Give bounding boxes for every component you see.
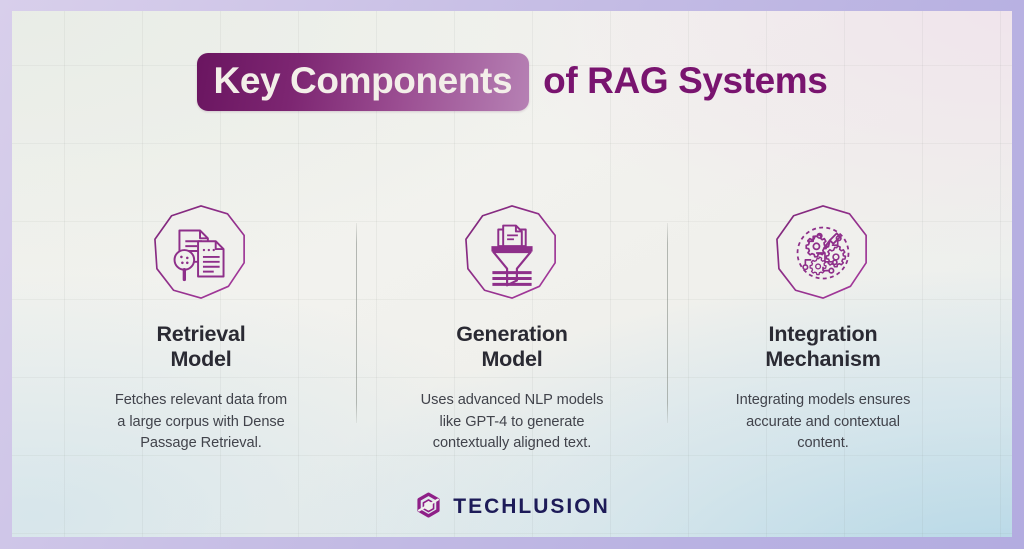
hexagon-swirl-icon: [414, 492, 443, 521]
component-title: Retrieval Model: [156, 322, 245, 372]
component-description: Fetches relevant data from a large corpu…: [115, 390, 287, 454]
component-description: Uses advanced NLP models like GPT-4 to g…: [421, 390, 604, 454]
components-row: Retrieval Model Fetches relevant data fr…: [24, 204, 1000, 455]
brand-footer: TECHLUSION: [12, 492, 1012, 521]
component-title: Generation Model: [456, 322, 568, 372]
component-card-integration-mechanism: Integration Mechanism Integrating models…: [668, 204, 978, 455]
component-title: Integration Mechanism: [765, 322, 880, 372]
component-description: Integrating models ensures accurate and …: [736, 390, 911, 454]
component-card-generation-model: Generation Model Uses advanced NLP model…: [357, 204, 667, 455]
title-badge: Key Components: [197, 53, 530, 111]
brand-name: TECHLUSION: [453, 495, 610, 519]
funnel-documents-icon: [463, 204, 561, 302]
gears-circuit-icon: [774, 204, 872, 302]
document-search-icon: [152, 204, 250, 302]
infographic-slide: Key Componentsof RAG Systems: [0, 0, 1024, 549]
component-card-retrieval-model: Retrieval Model Fetches relevant data fr…: [46, 204, 356, 455]
page-title: Key Componentsof RAG Systems: [12, 53, 1012, 111]
slide-canvas: Key Componentsof RAG Systems: [12, 11, 1012, 537]
title-rest: of RAG Systems: [529, 62, 827, 102]
